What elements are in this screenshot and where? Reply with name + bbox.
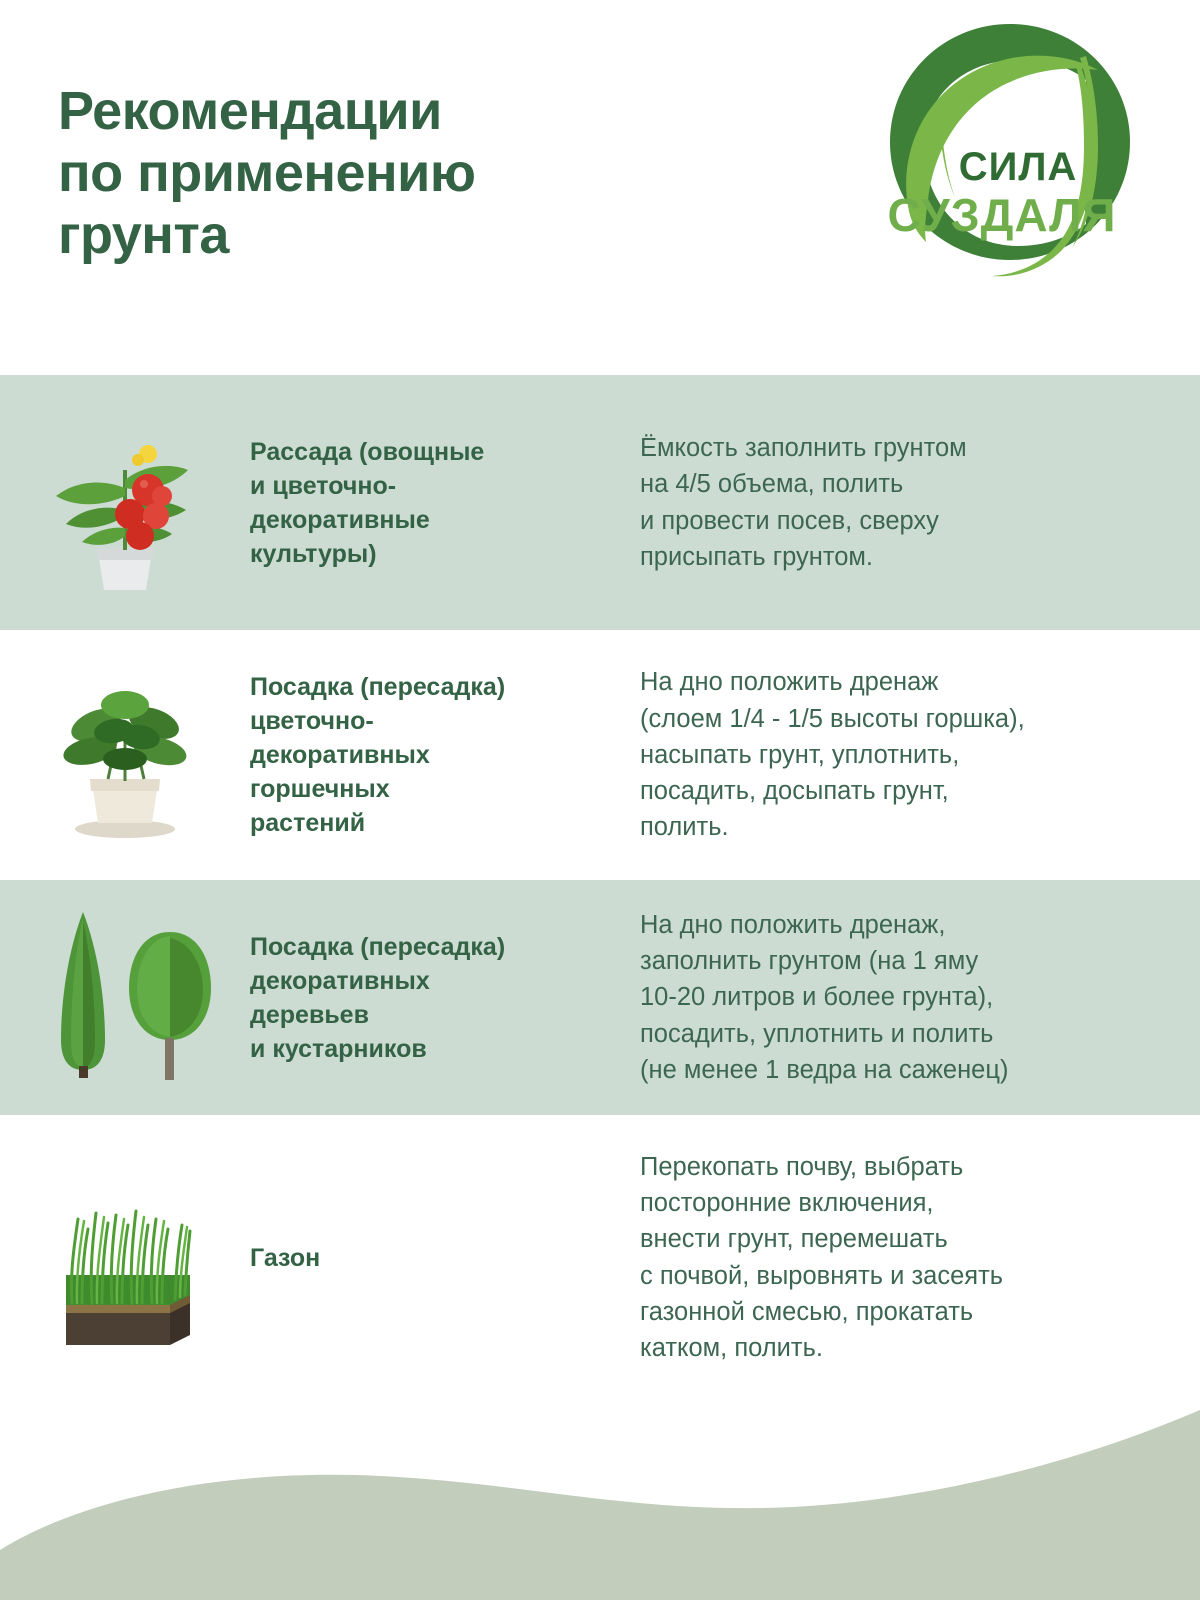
logo-text-line2: СУЗДАЛЯ (888, 189, 1117, 241)
row-title: Рассада (овощные и цветочно- декоративны… (250, 435, 624, 571)
row-description: Ёмкость заполнить грунтом на 4/5 объема,… (640, 430, 1160, 575)
potted-foliage-plant-icon (30, 663, 220, 848)
wave-shape (0, 1410, 1200, 1600)
row-description: Перекопать почву, выбрать посторонние вк… (640, 1149, 1160, 1366)
conifer-and-shrub-trees-icon (25, 908, 225, 1088)
table-row: Посадка (пересадка) декоративных деревье… (0, 880, 1200, 1115)
table-row: Газон Перекопать почву, выбрать посторон… (0, 1115, 1200, 1400)
row-description: На дно положить дренаж (слоем 1/4 - 1/5 … (640, 664, 1160, 845)
row-image-cell (0, 630, 250, 880)
grass-turf-block-icon (30, 1163, 220, 1353)
bottom-wave-decoration (0, 1390, 1200, 1600)
logo-text-line1: СИЛА (959, 145, 1078, 189)
recommendations-table: Рассада (овощные и цветочно- декоративны… (0, 375, 1200, 1400)
row-description-cell: Перекопать почву, выбрать посторонние вк… (640, 1149, 1200, 1366)
row-title: Газон (250, 1241, 624, 1275)
row-description: На дно положить дренаж, заполнить грунто… (640, 907, 1160, 1088)
row-image-cell (0, 880, 250, 1115)
row-title-cell: Газон (250, 1241, 640, 1275)
table-row: Рассада (овощные и цветочно- декоративны… (0, 375, 1200, 630)
row-image-cell (0, 1115, 250, 1400)
row-description-cell: Ёмкость заполнить грунтом на 4/5 объема,… (640, 430, 1200, 575)
row-title: Посадка (пересадка) декоративных деревье… (250, 930, 624, 1066)
tomato-seedling-in-pot-icon (30, 410, 220, 595)
row-title: Посадка (пересадка) цветочно- декоративн… (250, 670, 624, 840)
row-title-cell: Рассада (овощные и цветочно- декоративны… (250, 435, 640, 571)
page-title: Рекомендации по применению грунта (58, 80, 475, 266)
brand-logo: СИЛА СУЗДАЛЯ (872, 18, 1148, 284)
row-title-cell: Посадка (пересадка) цветочно- декоративн… (250, 670, 640, 840)
row-description-cell: На дно положить дренаж (слоем 1/4 - 1/5 … (640, 664, 1200, 845)
page-header: Рекомендации по применению грунта СИЛА С… (0, 0, 1200, 375)
row-description-cell: На дно положить дренаж, заполнить грунто… (640, 907, 1200, 1088)
row-title-cell: Посадка (пересадка) декоративных деревье… (250, 930, 640, 1066)
row-image-cell (0, 375, 250, 630)
table-row: Посадка (пересадка) цветочно- декоративн… (0, 630, 1200, 880)
